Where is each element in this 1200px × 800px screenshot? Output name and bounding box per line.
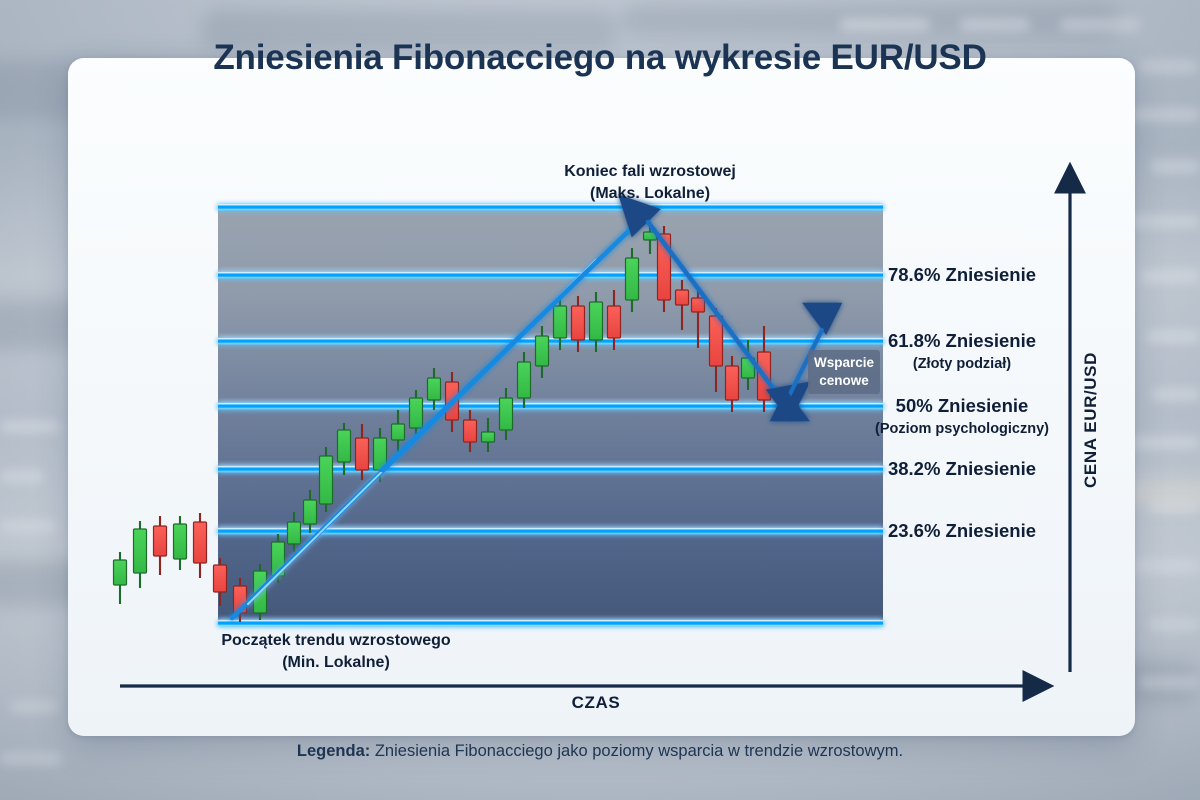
start-annotation: Początek trendu wzrostowego (Min. Lokaln…: [221, 632, 451, 671]
plot-area: [218, 206, 883, 624]
fib-level-236: [218, 529, 883, 531]
start-label-line2: (Min. Lokalne): [282, 654, 390, 671]
fib-level-1000: [218, 205, 883, 207]
fib-level-0: [218, 621, 883, 623]
fib-label: 23.6% Zniesienie: [888, 520, 1036, 541]
x-axis-label: CZAS: [572, 693, 621, 712]
fib-label: 78.6% Zniesienie: [888, 264, 1036, 285]
support-annotation: Wsparcie cenowe: [808, 350, 880, 394]
candlestick: [174, 516, 187, 570]
fib-level-786: [218, 273, 883, 275]
candlestick: [194, 513, 207, 578]
peak-annotation: Koniec fali wzrostowej (Maks. Lokalne): [564, 163, 736, 202]
candlestick: [134, 521, 147, 588]
support-label-line1: Wsparcie: [814, 355, 875, 370]
support-label-line2: cenowe: [819, 373, 869, 388]
peak-label-line2: (Maks. Lokalne): [590, 185, 710, 202]
fib-level-618: [218, 339, 883, 341]
chart-stage: 78.6% Zniesienie61.8% Zniesienie(Złoty p…: [0, 0, 1200, 800]
peak-label-line1: Koniec fali wzrostowej: [564, 163, 736, 180]
fib-sublabel: (Złoty podział): [913, 356, 1011, 372]
candlestick: [154, 516, 167, 575]
fibonacci-level-labels: 78.6% Zniesienie61.8% Zniesienie(Złoty p…: [875, 264, 1049, 541]
fib-label: 38.2% Zniesienie: [888, 458, 1036, 479]
candlestick: [320, 447, 333, 512]
start-label-line1: Początek trendu wzrostowego: [221, 632, 451, 649]
fib-label: 61.8% Zniesienie: [888, 330, 1036, 351]
y-axis-label: CENA EUR/USD: [1081, 352, 1100, 488]
fib-sublabel: (Poziom psychologiczny): [875, 421, 1049, 437]
fib-label: 50% Zniesienie: [896, 395, 1029, 416]
fib-level-382: [218, 467, 883, 469]
fibonacci-chart-svg: 78.6% Zniesienie61.8% Zniesienie(Złoty p…: [0, 0, 1200, 800]
candlestick: [114, 552, 127, 604]
